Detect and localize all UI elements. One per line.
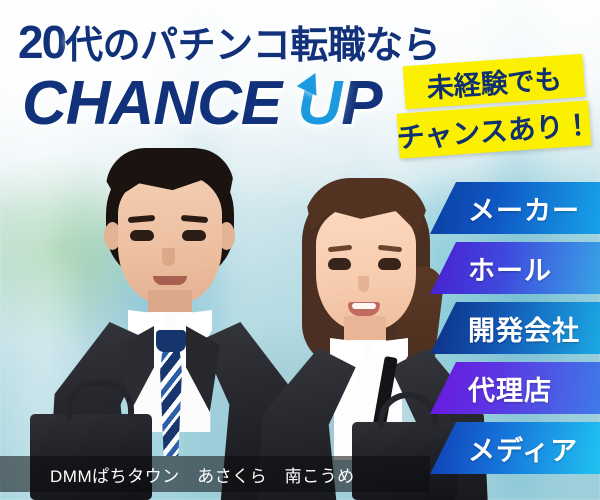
category-bar-media[interactable]: メディア bbox=[430, 422, 600, 474]
category-label-hall: ホール bbox=[468, 249, 552, 288]
badge-1-label: 未経験でも bbox=[425, 57, 562, 105]
category-bar-maker[interactable]: メーカー bbox=[430, 182, 600, 234]
logo-chance: CHANCE bbox=[22, 69, 281, 138]
woman-teeth bbox=[352, 303, 376, 309]
woman-eye-left bbox=[328, 258, 351, 270]
woman-nose bbox=[358, 276, 369, 292]
banner-advertisement: 20代のパチンコ転職なら CHANCE UP 未経験でも チャンスあり！ メーカ… bbox=[0, 0, 600, 500]
woman-eye-right bbox=[378, 258, 401, 270]
headline-number: 20 bbox=[18, 16, 65, 68]
man-nose bbox=[162, 248, 175, 266]
category-bar-hall[interactable]: ホール bbox=[430, 242, 600, 294]
category-label-agency: 代理店 bbox=[468, 369, 552, 408]
caption-text: DMMぱちタウン あさくら 南こうめ bbox=[50, 462, 355, 487]
caption-strip: DMMぱちタウン あさくら 南こうめ bbox=[0, 456, 430, 492]
logo-p: P bbox=[341, 69, 381, 138]
category-bar-agency[interactable]: 代理店 bbox=[430, 362, 600, 414]
man-eye-left bbox=[130, 230, 154, 241]
category-label-development: 開発会社 bbox=[468, 309, 580, 348]
category-label-maker: メーカー bbox=[468, 189, 580, 228]
category-bar-development[interactable]: 開発会社 bbox=[430, 302, 600, 354]
category-label-media: メディア bbox=[468, 429, 578, 468]
headline-rest: 代のパチンコ転職なら bbox=[65, 25, 440, 67]
logo-chance-up: CHANCE UP bbox=[22, 68, 382, 139]
man-mouth bbox=[153, 276, 187, 285]
man-eye-right bbox=[182, 230, 206, 241]
headline: 20代のパチンコ転職なら bbox=[18, 14, 440, 69]
man-necktie-knot bbox=[156, 330, 186, 352]
